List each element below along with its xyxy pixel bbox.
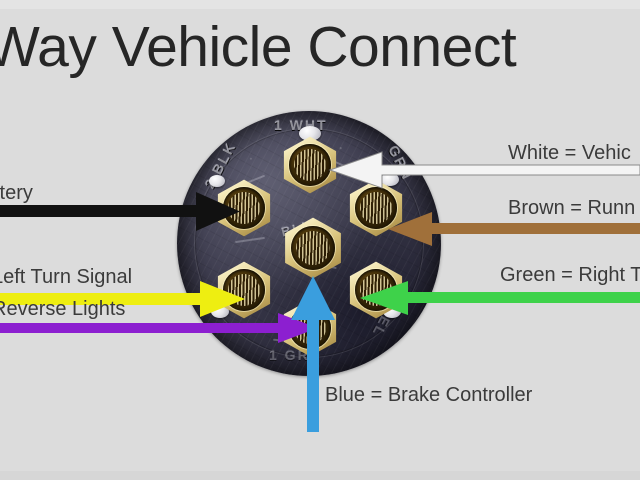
diagram-canvas: Way Vehicle Connect 1 WHT 2 BLK GRN BLU …: [0, 0, 640, 480]
solder-blob: [209, 175, 225, 187]
bottom-band: [0, 471, 640, 480]
arrow-black: [0, 192, 240, 232]
terminal-core: [296, 231, 330, 265]
terminal-core: [294, 149, 326, 181]
top-band: [0, 0, 640, 9]
callout-black-label: ttery: [0, 181, 33, 205]
callout-yellow-label: Left Turn Signal: [0, 265, 132, 289]
arrow-blue: [288, 272, 338, 432]
terminal-blue[interactable]: [282, 217, 344, 279]
callout-white-label: White = Vehic: [508, 141, 631, 165]
callout-purple-label: Reverse Lights: [0, 297, 125, 321]
terminal-socket: [289, 144, 331, 186]
callout-green-label: Green = Right T: [500, 263, 640, 287]
page-title: Way Vehicle Connect: [0, 12, 640, 82]
callout-brown-label: Brown = Runn: [508, 196, 635, 220]
callout-blue-label: Blue = Brake Controller: [325, 383, 532, 407]
